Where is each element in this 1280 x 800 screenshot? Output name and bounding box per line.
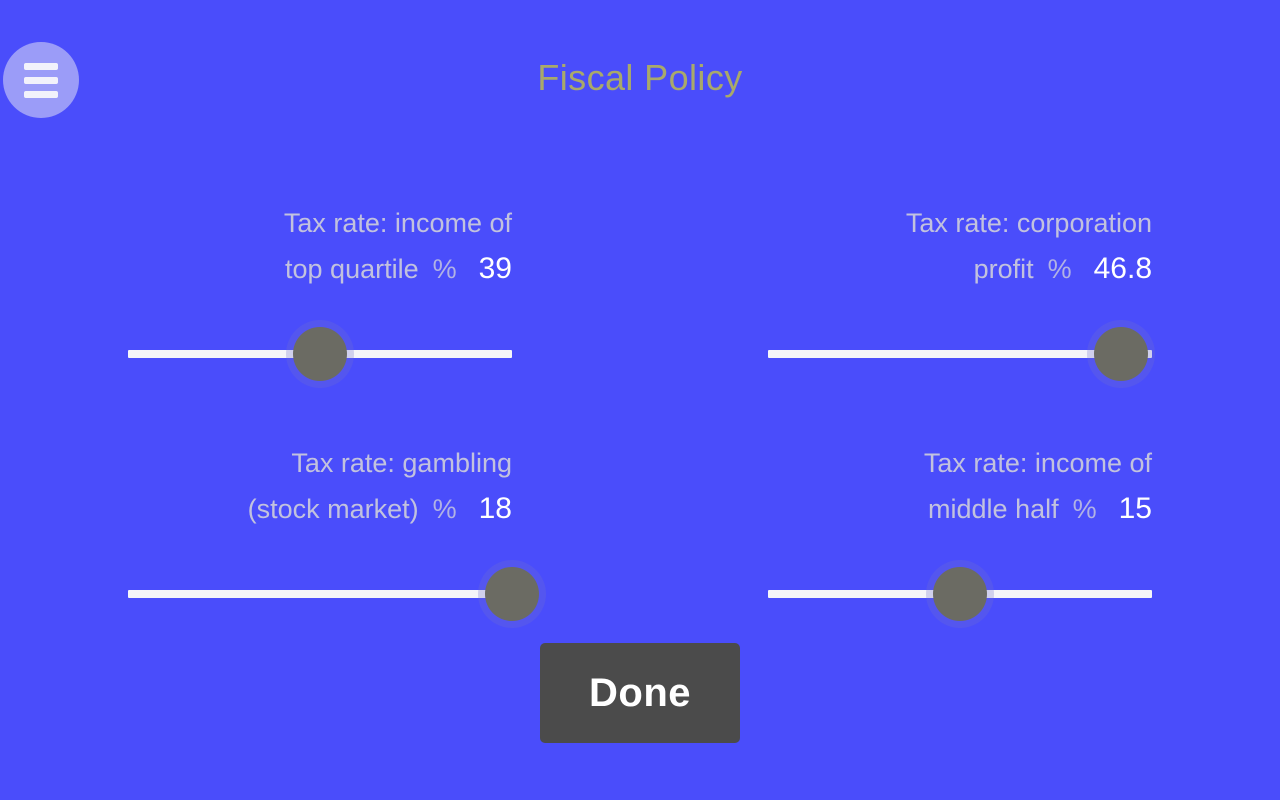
page-title: Fiscal Policy bbox=[0, 55, 1280, 101]
slider-label-line2-row: top quartile%39 bbox=[128, 246, 512, 292]
percent-sign: % bbox=[1073, 494, 1097, 524]
slider-group-corporation-profit: Tax rate: corporation profit%46.8 bbox=[640, 200, 1152, 394]
slider-track-row[interactable] bbox=[640, 554, 1152, 634]
slider-thumb[interactable] bbox=[1094, 327, 1148, 381]
slider-thumb[interactable] bbox=[933, 567, 987, 621]
slider-group-middle-half: Tax rate: income of middle half%15 bbox=[640, 440, 1152, 634]
slider-label-line2: (stock market) bbox=[248, 494, 419, 524]
slider-label-line2-row: profit%46.8 bbox=[768, 246, 1152, 292]
slider-value: 39 bbox=[479, 252, 512, 285]
slider-label-corporation-profit: Tax rate: corporation profit%46.8 bbox=[768, 200, 1152, 292]
slider-label-line1: Tax rate: income of bbox=[128, 200, 512, 246]
slider-value: 46.8 bbox=[1094, 252, 1152, 285]
slider-value: 15 bbox=[1119, 492, 1152, 525]
slider-label-line1: Tax rate: corporation bbox=[768, 200, 1152, 246]
slider-label-line2: profit bbox=[974, 254, 1034, 284]
percent-sign: % bbox=[433, 254, 457, 284]
slider-group-gambling: Tax rate: gambling (stock market)%18 bbox=[0, 440, 512, 634]
percent-sign: % bbox=[1048, 254, 1072, 284]
slider-value: 18 bbox=[479, 492, 512, 525]
slider-label-middle-half: Tax rate: income of middle half%15 bbox=[768, 440, 1152, 532]
slider-label-gambling: Tax rate: gambling (stock market)%18 bbox=[128, 440, 512, 532]
slider-group-top-quartile: Tax rate: income of top quartile%39 bbox=[0, 200, 512, 394]
slider-label-line2-row: (stock market)%18 bbox=[128, 486, 512, 532]
slider-grid: Tax rate: income of top quartile%39 Tax … bbox=[0, 200, 1280, 620]
slider-label-line2-row: middle half%15 bbox=[768, 486, 1152, 532]
slider-label-line1: Tax rate: income of bbox=[768, 440, 1152, 486]
slider-label-line1: Tax rate: gambling bbox=[128, 440, 512, 486]
done-button[interactable]: Done bbox=[540, 643, 740, 743]
slider-track-row[interactable] bbox=[0, 314, 512, 394]
slider-label-line2: top quartile bbox=[285, 254, 419, 284]
slider-label-line2: middle half bbox=[928, 494, 1059, 524]
percent-sign: % bbox=[433, 494, 457, 524]
slider-track[interactable] bbox=[128, 590, 512, 598]
slider-track-row[interactable] bbox=[640, 314, 1152, 394]
slider-label-top-quartile: Tax rate: income of top quartile%39 bbox=[128, 200, 512, 292]
slider-thumb[interactable] bbox=[293, 327, 347, 381]
slider-track-row[interactable] bbox=[0, 554, 512, 634]
slider-thumb[interactable] bbox=[485, 567, 539, 621]
